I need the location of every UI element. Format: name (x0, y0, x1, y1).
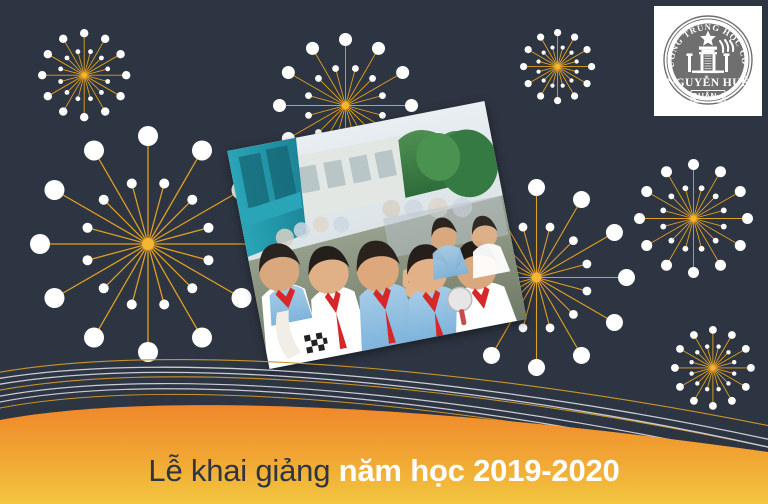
event-photo-image (227, 101, 527, 369)
firework-burst (630, 155, 757, 282)
firework-burst (34, 25, 134, 125)
event-photo (227, 101, 527, 369)
school-logo: TRƯỜNG TRUNG HỌC CƠ SỞ (654, 6, 762, 116)
logo-district: QUẬN 4 (691, 92, 724, 101)
banner-title-part1: Lễ khai giảng (148, 453, 330, 488)
logo-school-name: NGUYỄN HUỆ (667, 74, 749, 89)
banner-title-part2: năm học 2019-2020 (339, 453, 620, 488)
firework-burst (516, 25, 599, 108)
firework-burst (667, 322, 759, 414)
poster-canvas: Lễ khai giảng năm học 2019-2020 TRƯỜNG T… (0, 0, 768, 504)
school-seal-icon: TRƯỜNG TRUNG HỌC CƠ SỞ (658, 10, 758, 112)
banner-title: Lễ khai giảng năm học 2019-2020 (0, 454, 768, 488)
